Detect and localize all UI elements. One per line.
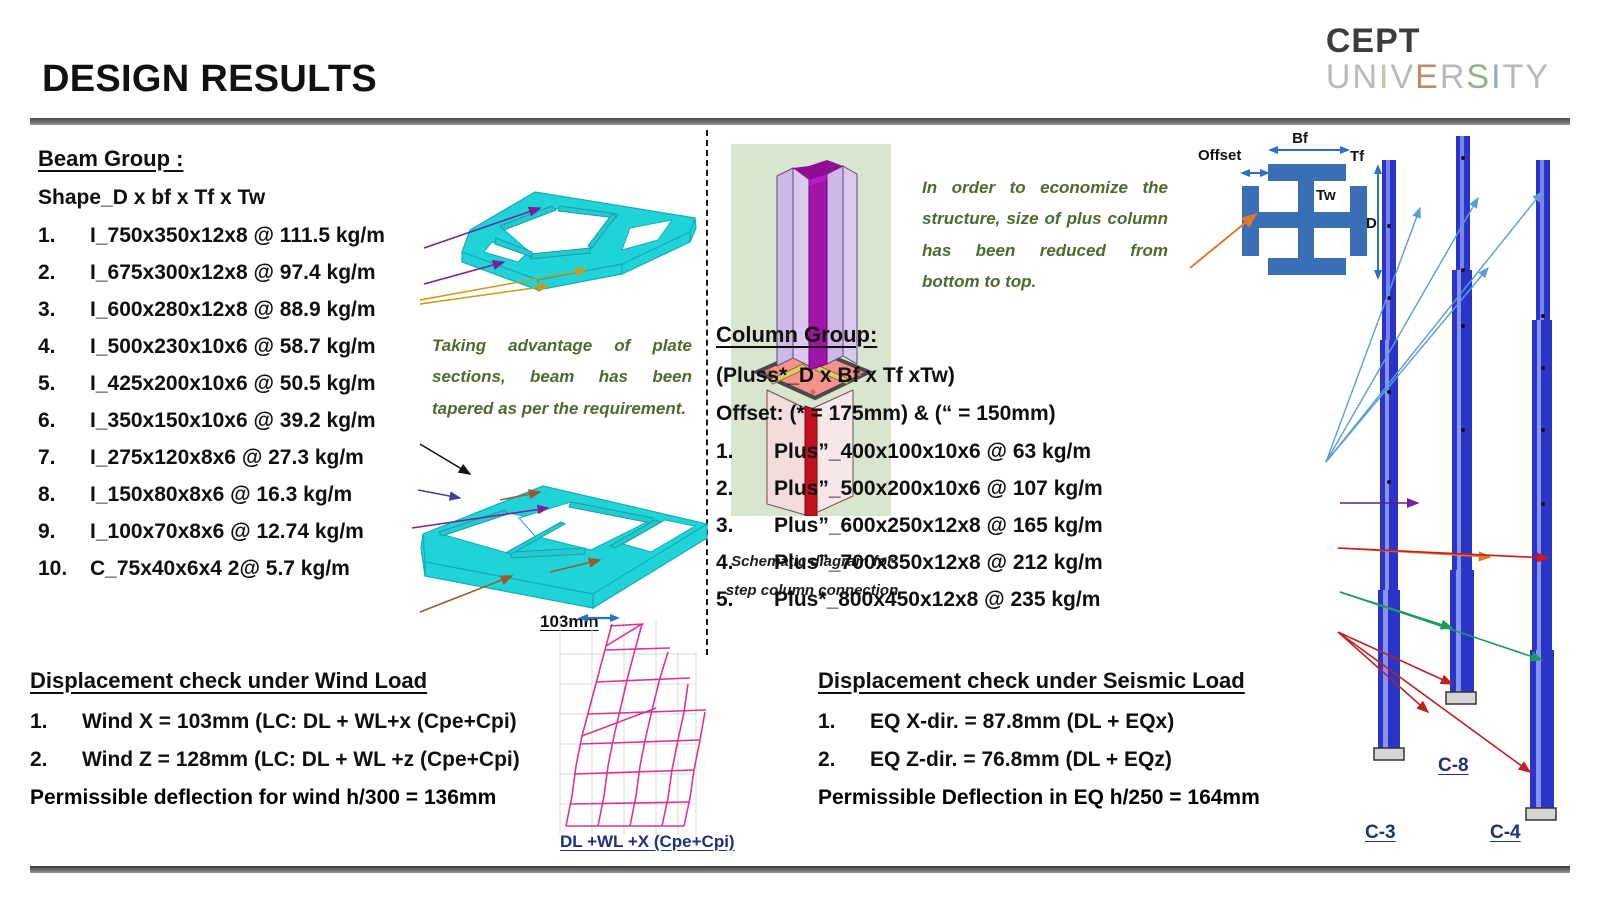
list-item: 2. I_675x300x12x8 @ 97.4 kg/m <box>38 261 458 285</box>
list-item: 1. Plus”_400x100x10x6 @ 63 kg/m <box>716 440 1356 464</box>
list-item-number: 1. <box>30 710 82 734</box>
page-title: DESIGN RESULTS <box>42 58 377 101</box>
plus-section-offset-label: Offset <box>1198 147 1241 164</box>
list-item-label: I_100x70x8x6 @ 12.74 kg/m <box>90 520 364 544</box>
beam-framing-3d-bottom-image <box>415 462 715 627</box>
wind-check-heading: Displacement check under Wind Load <box>30 668 600 694</box>
list-item-number: 2. <box>818 748 870 772</box>
seismic-permissible-deflection: Permissible Deflection in EQ h/250 = 164… <box>818 786 1358 810</box>
deflected-building-shape-image <box>520 612 735 837</box>
list-item: 3. Plus”_600x250x12x8 @ 165 kg/m <box>716 514 1356 538</box>
list-item: 5. I_425x200x10x6 @ 50.5 kg/m <box>38 372 458 396</box>
column-group-heading: Column Group: <box>716 322 1356 348</box>
list-item: 8. I_150x80x8x6 @ 16.3 kg/m <box>38 483 458 507</box>
list-item-number: 8. <box>38 483 90 507</box>
list-item-label: I_675x300x12x8 @ 97.4 kg/m <box>90 261 376 285</box>
list-item-label: Plus”_700x350x12x8 @ 212 kg/m <box>774 551 1103 575</box>
list-item-number: 6. <box>38 409 90 433</box>
list-item: 2. Plus”_500x200x10x6 @ 107 kg/m <box>716 477 1356 501</box>
column-shape-legend: (Pluss*_D x Bf x Tf xTw) <box>716 364 1356 388</box>
list-item-label: I_425x200x10x6 @ 50.5 kg/m <box>90 372 376 396</box>
logo-university-text: UNIVERSITY <box>1326 60 1550 94</box>
slide-root: DESIGN RESULTS CEPT UNIVERSITY Beam Grou… <box>0 0 1600 900</box>
list-item: 4. I_500x230x10x6 @ 58.7 kg/m <box>38 335 458 359</box>
logo-cept-text: CEPT <box>1326 24 1550 58</box>
list-item-number: 2. <box>716 477 774 501</box>
list-item: 7. I_275x120x8x6 @ 27.3 kg/m <box>38 446 458 470</box>
list-item-number: 2. <box>30 748 82 772</box>
column-elevations-image <box>1330 130 1600 860</box>
list-item-label: I_350x150x10x6 @ 39.2 kg/m <box>90 409 376 433</box>
list-item-number: 3. <box>38 298 90 322</box>
list-item-number: 9. <box>38 520 90 544</box>
list-item-number: 2. <box>38 261 90 285</box>
list-item-label: EQ Z-dir. = 76.8mm (DL + EQz) <box>870 748 1172 772</box>
list-item: 2. Wind Z = 128mm (LC: DL + WL +z (Cpe+C… <box>30 748 600 772</box>
list-item: 6. I_350x150x10x6 @ 39.2 kg/m <box>38 409 458 433</box>
column-label-c8: C-8 <box>1438 755 1469 777</box>
list-item: 3. I_600x280x12x8 @ 88.9 kg/m <box>38 298 458 322</box>
cept-university-logo: CEPT UNIVERSITY <box>1326 24 1550 94</box>
seismic-displacement-section: Displacement check under Seismic Load 1.… <box>818 668 1358 810</box>
beam-group-heading: Beam Group : <box>38 146 458 172</box>
list-item-label: C_75x40x6x4 2@ 5.7 kg/m <box>90 557 350 581</box>
list-item: 1. I_750x350x12x8 @ 111.5 kg/m <box>38 224 458 248</box>
list-item-number: 7. <box>38 446 90 470</box>
beam-shape-legend: Shape_D x bf x Tf x Tw <box>38 186 458 210</box>
column-economize-note: In order to economize the structure, siz… <box>922 172 1168 298</box>
column-group-section: Column Group: (Pluss*_D x Bf x Tf xTw) O… <box>716 322 1356 625</box>
list-item-label: I_275x120x8x6 @ 27.3 kg/m <box>90 446 364 470</box>
list-item: 1. Wind X = 103mm (LC: DL + WL+x (Cpe+Cp… <box>30 710 600 734</box>
wind-permissible-deflection: Permissible deflection for wind h/300 = … <box>30 786 600 810</box>
list-item: 5. Plus*_800x450x12x8 @ 235 kg/m <box>716 588 1356 612</box>
list-item-number: 10. <box>38 557 90 581</box>
list-item-label: Plus”_400x100x10x6 @ 63 kg/m <box>774 440 1091 464</box>
list-item-number: 4. <box>716 551 774 575</box>
list-item-number: 3. <box>716 514 774 538</box>
list-item: 2. EQ Z-dir. = 76.8mm (DL + EQz) <box>818 748 1358 772</box>
seismic-check-heading: Displacement check under Seismic Load <box>818 668 1358 694</box>
column-label-c4: C-4 <box>1490 822 1521 844</box>
list-item-label: Wind Z = 128mm (LC: DL + WL +z (Cpe+Cpi) <box>82 748 520 772</box>
list-item-number: 4. <box>38 335 90 359</box>
list-item-number: 1. <box>716 440 774 464</box>
list-item-label: I_750x350x12x8 @ 111.5 kg/m <box>90 224 385 248</box>
list-item: 4. Plus”_700x350x12x8 @ 212 kg/m <box>716 551 1356 575</box>
column-label-c3: C-3 <box>1365 822 1396 844</box>
list-item: 1. EQ X-dir. = 87.8mm (DL + EQx) <box>818 710 1358 734</box>
header-divider-rule <box>30 118 1570 125</box>
column-offset-legend: Offset: (* = 175mm) & (“ = 150mm) <box>716 402 1356 426</box>
deflection-load-case-caption: DL +WL +X (Cpe+Cpi) <box>560 832 735 852</box>
list-item-label: I_150x80x8x6 @ 16.3 kg/m <box>90 483 352 507</box>
list-item-number: 1. <box>818 710 870 734</box>
list-item-number: 1. <box>38 224 90 248</box>
list-item-number: 5. <box>38 372 90 396</box>
list-item-label: I_500x230x10x6 @ 58.7 kg/m <box>90 335 376 359</box>
beam-taper-note: Taking advantage of plate sections, beam… <box>432 330 692 424</box>
list-item-label: Plus”_500x200x10x6 @ 107 kg/m <box>774 477 1103 501</box>
list-item: 9. I_100x70x8x6 @ 12.74 kg/m <box>38 520 458 544</box>
beam-group-section: Beam Group : Shape_D x bf x Tf x Tw 1. I… <box>38 146 458 594</box>
list-item-label: Wind X = 103mm (LC: DL + WL+x (Cpe+Cpi) <box>82 710 517 734</box>
footer-divider-rule <box>30 866 1570 873</box>
list-item: 10. C_75x40x6x4 2@ 5.7 kg/m <box>38 557 458 581</box>
list-item-label: EQ X-dir. = 87.8mm (DL + EQx) <box>870 710 1174 734</box>
beam-framing-3d-top-image <box>440 168 715 318</box>
plus-section-bf-label: Bf <box>1292 130 1309 147</box>
list-item-label: I_600x280x12x8 @ 88.9 kg/m <box>90 298 376 322</box>
list-item-label: Plus*_800x450x12x8 @ 235 kg/m <box>774 588 1100 612</box>
list-item-number: 5. <box>716 588 774 612</box>
wind-displacement-section: Displacement check under Wind Load 1. Wi… <box>30 668 600 810</box>
list-item-label: Plus”_600x250x12x8 @ 165 kg/m <box>774 514 1103 538</box>
